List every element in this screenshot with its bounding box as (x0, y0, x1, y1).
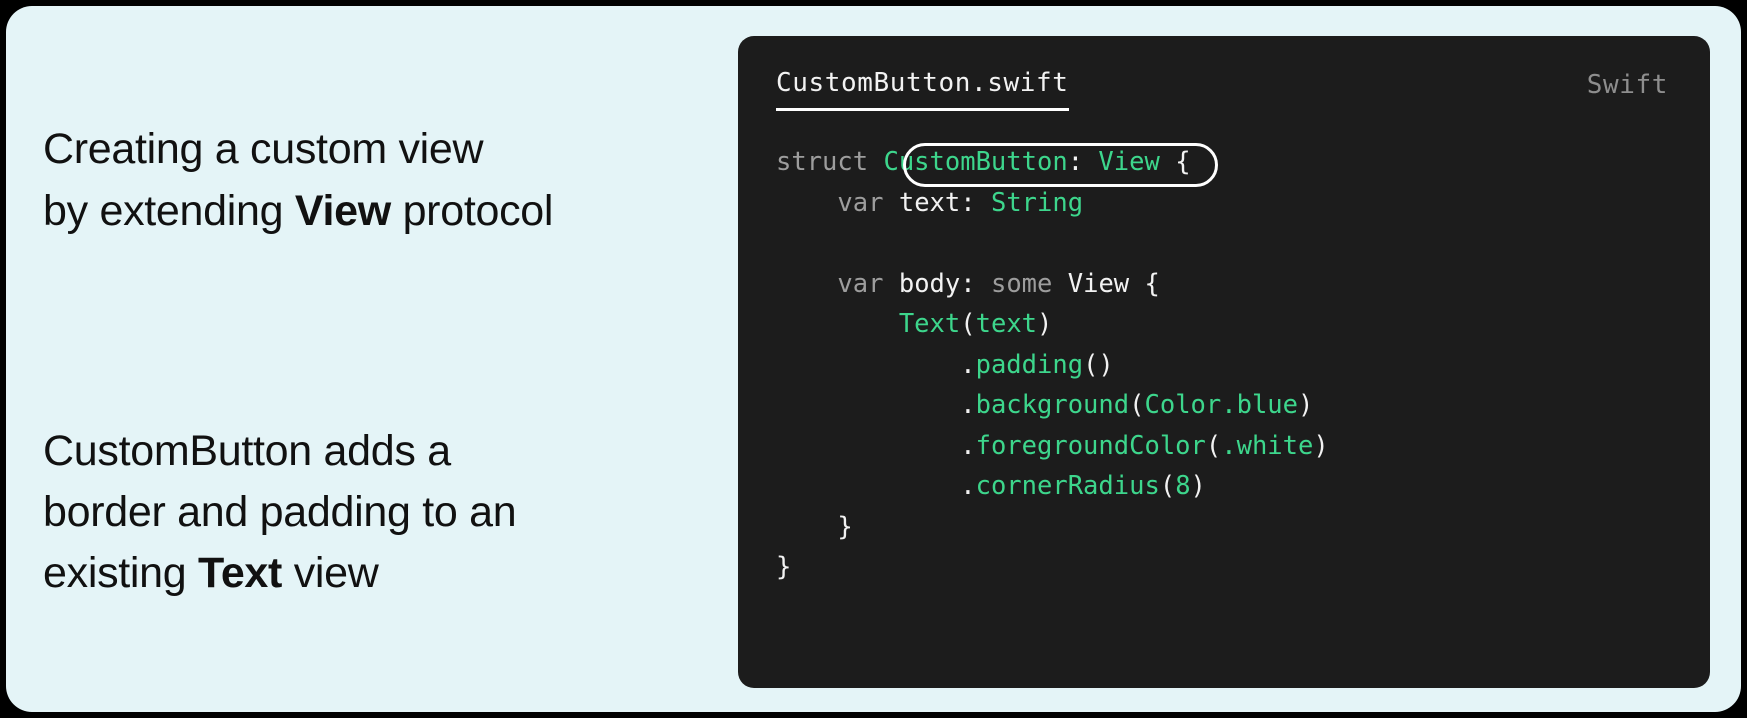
code-token: text (976, 309, 1037, 339)
code-token: View (1098, 147, 1159, 177)
code-token: . (960, 390, 975, 420)
code-indent (776, 309, 899, 339)
code-indent (776, 350, 960, 380)
code-token: String (991, 188, 1083, 218)
explanation-column: Creating a custom viewby extending View … (38, 6, 728, 712)
code-line: var text: String (776, 183, 1710, 224)
code-line (776, 223, 1710, 264)
code-indent (776, 269, 837, 299)
code-indent (776, 471, 960, 501)
slide-card: Creating a custom viewby extending View … (6, 6, 1741, 712)
code-token: .white (1221, 431, 1313, 461)
code-line: struct CustomButton: View { (776, 142, 1710, 183)
paragraph-1-emphasis: View (295, 187, 391, 235)
code-indent (776, 512, 837, 542)
code-token: cornerRadius (976, 471, 1160, 501)
code-token: { (1160, 147, 1191, 177)
code-indent (776, 390, 960, 420)
code-token: . (960, 350, 975, 380)
explanation-paragraph-1: Creating a custom viewby extending View … (43, 118, 723, 242)
code-token: background (976, 390, 1130, 420)
paragraph-2-text: existing (43, 549, 198, 597)
code-language-label: Swift (1587, 68, 1668, 100)
code-token: } (837, 512, 852, 542)
code-token: foregroundColor (976, 431, 1206, 461)
paragraph-2-text: CustomButton adds a (43, 427, 451, 475)
code-line: .background(Color.blue) (776, 385, 1710, 426)
code-token: ( (1206, 431, 1221, 461)
paragraph-1-text: by extending (43, 187, 295, 235)
explanation-paragraph-2: CustomButton adds aborder and padding to… (43, 421, 683, 604)
code-token: . (960, 431, 975, 461)
code-line: .foregroundColor(.white) (776, 426, 1710, 467)
code-token: () (1083, 350, 1114, 380)
code-line: } (776, 547, 1710, 588)
code-token: body: (899, 269, 991, 299)
code-token: padding (976, 350, 1083, 380)
code-token: some (991, 269, 1068, 299)
code-indent (776, 188, 837, 218)
code-token: 8 (1175, 471, 1190, 501)
paragraph-2-text: border and padding to an (43, 488, 516, 536)
code-token: Color.blue (1144, 390, 1298, 420)
code-panel: CustomButton.swift Swift struct CustomBu… (738, 36, 1710, 688)
code-line: var body: some View { (776, 264, 1710, 305)
code-panel-header: CustomButton.swift Swift (738, 36, 1710, 124)
code-token: ( (1160, 471, 1175, 501)
code-line: Text(text) (776, 304, 1710, 345)
paragraph-2-emphasis: Text (198, 549, 282, 597)
code-token: ) (1313, 431, 1328, 461)
code-token: ) (1037, 309, 1052, 339)
paragraph-1-text: Creating a custom view (43, 125, 483, 173)
code-indent (776, 431, 960, 461)
code-token: ) (1191, 471, 1206, 501)
code-token: } (776, 552, 791, 582)
code-token: text: (899, 188, 991, 218)
code-line: .padding() (776, 345, 1710, 386)
code-token: Text (899, 309, 960, 339)
code-token: ) (1298, 390, 1313, 420)
code-token: ( (960, 309, 975, 339)
code-token: CustomButton (883, 147, 1067, 177)
code-token: var (837, 188, 898, 218)
code-token: View { (1068, 269, 1160, 299)
code-token: var (837, 269, 898, 299)
code-line: .cornerRadius(8) (776, 466, 1710, 507)
code-token: . (960, 471, 975, 501)
code-listing: struct CustomButton: View { var text: St… (738, 124, 1710, 588)
paragraph-2-text: view (282, 549, 378, 597)
paragraph-1-text: protocol (391, 187, 553, 235)
code-filename: CustomButton.swift (776, 68, 1069, 111)
code-line: } (776, 507, 1710, 548)
code-token: struct (776, 147, 883, 177)
code-token: ( (1129, 390, 1144, 420)
code-token: : (1068, 147, 1099, 177)
